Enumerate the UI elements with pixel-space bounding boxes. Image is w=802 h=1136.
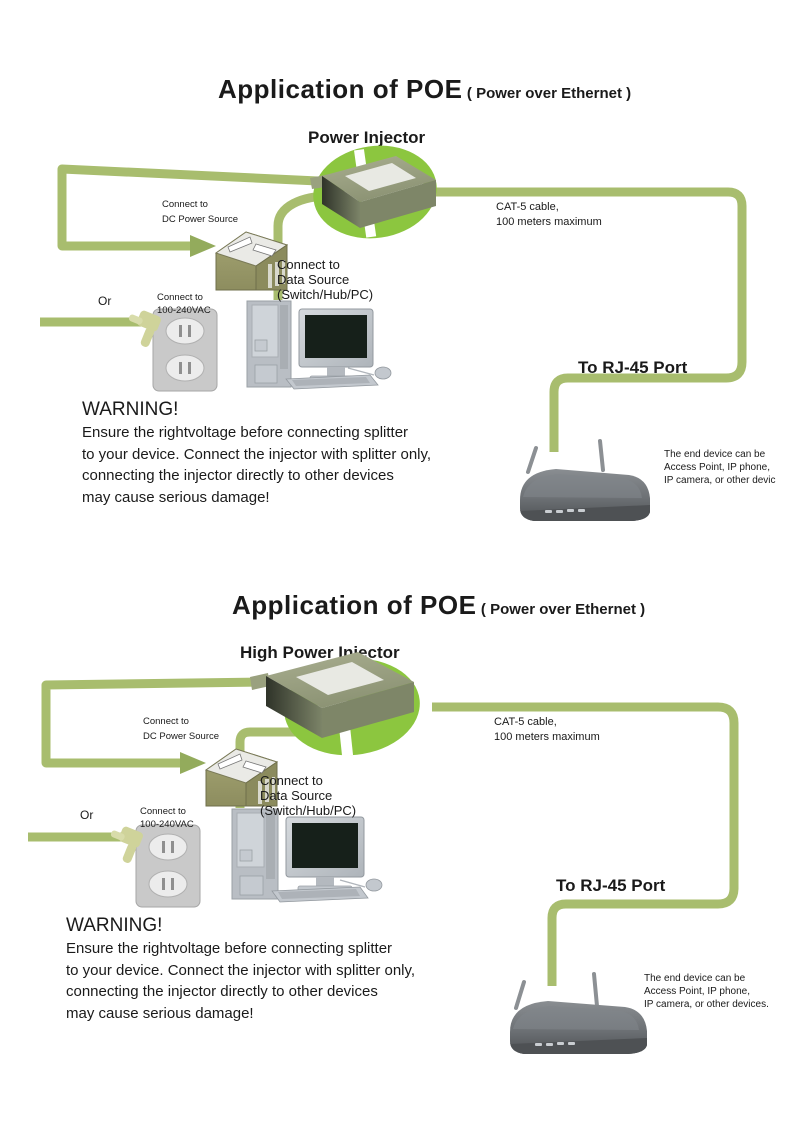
cat5-cable-path [432, 707, 734, 986]
warning-line-3: connecting the injector directly to othe… [82, 465, 431, 487]
end-device-router [520, 441, 650, 521]
panel-1-warning-block: WARNING! Ensure the rightvoltage before … [82, 397, 431, 508]
label-dc-power-source-line1: Connect to [162, 198, 208, 212]
label-or: Or [98, 294, 111, 308]
label-dc-power-source-line1: Connect to [143, 715, 189, 729]
warning-heading: WARNING! [66, 913, 415, 938]
warning-line-1: Ensure the rightvoltage before connectin… [82, 422, 431, 444]
label-data-source-line2: Data Source [277, 272, 349, 288]
poe-diagram-panel-2: Application of POE ( Power over Ethernet… [0, 540, 802, 1100]
label-ac-voltage-line1: Connect to [140, 805, 186, 819]
label-cat5-line2: 100 meters maximum [494, 730, 600, 745]
warning-line-2: to your device. Connect the injector wit… [82, 444, 431, 466]
warning-heading: WARNING! [82, 397, 431, 422]
label-end-device-line1: The end device can be [664, 448, 802, 462]
ac-wall-outlet [110, 825, 200, 907]
label-ac-voltage-line1: Connect to [157, 291, 203, 305]
high-power-injector-device [250, 652, 425, 762]
panel-2-warning-block: WARNING! Ensure the rightvoltage before … [66, 913, 415, 1024]
label-end-device-line3: IP camera, or other devices. [644, 998, 769, 1012]
label-to-rj45-port: To RJ-45 Port [578, 358, 687, 378]
power-injector-device [307, 138, 443, 246]
label-end-device-line3: IP camera, or other devic [664, 474, 802, 488]
ac-wall-outlet [128, 309, 217, 391]
label-dc-power-source-line2: DC Power Source [162, 213, 238, 227]
label-data-source-line3: (Switch/Hub/PC) [260, 803, 356, 819]
label-ac-voltage-line2: 100-240VAC [157, 304, 211, 318]
end-device-router [510, 974, 647, 1054]
label-data-source-line1: Connect to [260, 773, 323, 789]
label-to-rj45-port: To RJ-45 Port [556, 876, 665, 896]
label-cat5-line1: CAT-5 cable, [494, 715, 557, 730]
cat5-cable-path [418, 192, 742, 452]
label-dc-power-source-line2: DC Power Source [143, 730, 219, 744]
warning-line-2: to your device. Connect the injector wit… [66, 960, 415, 982]
warning-line-4: may cause serious damage! [66, 1003, 415, 1025]
warning-line-4: may cause serious damage! [82, 487, 431, 509]
poe-diagram-panel-1: Application of POE ( Power over Ethernet… [0, 0, 802, 540]
label-data-source-line2: Data Source [260, 788, 332, 804]
label-end-device-line2: Access Point, IP phone, [664, 461, 802, 475]
label-or: Or [80, 808, 93, 822]
warning-line-1: Ensure the rightvoltage before connectin… [66, 938, 415, 960]
label-end-device-line1: The end device can be [644, 972, 745, 986]
data-source-computer [232, 809, 382, 902]
label-cat5-line2: 100 meters maximum [496, 215, 602, 230]
warning-line-3: connecting the injector directly to othe… [66, 981, 415, 1003]
label-data-source-line3: (Switch/Hub/PC) [277, 287, 373, 303]
label-end-device-line2: Access Point, IP phone, [644, 985, 750, 999]
data-source-computer [247, 301, 391, 389]
label-cat5-line1: CAT-5 cable, [496, 200, 559, 215]
label-data-source-line1: Connect to [277, 257, 340, 273]
label-ac-voltage-line2: 100-240VAC [140, 818, 194, 832]
